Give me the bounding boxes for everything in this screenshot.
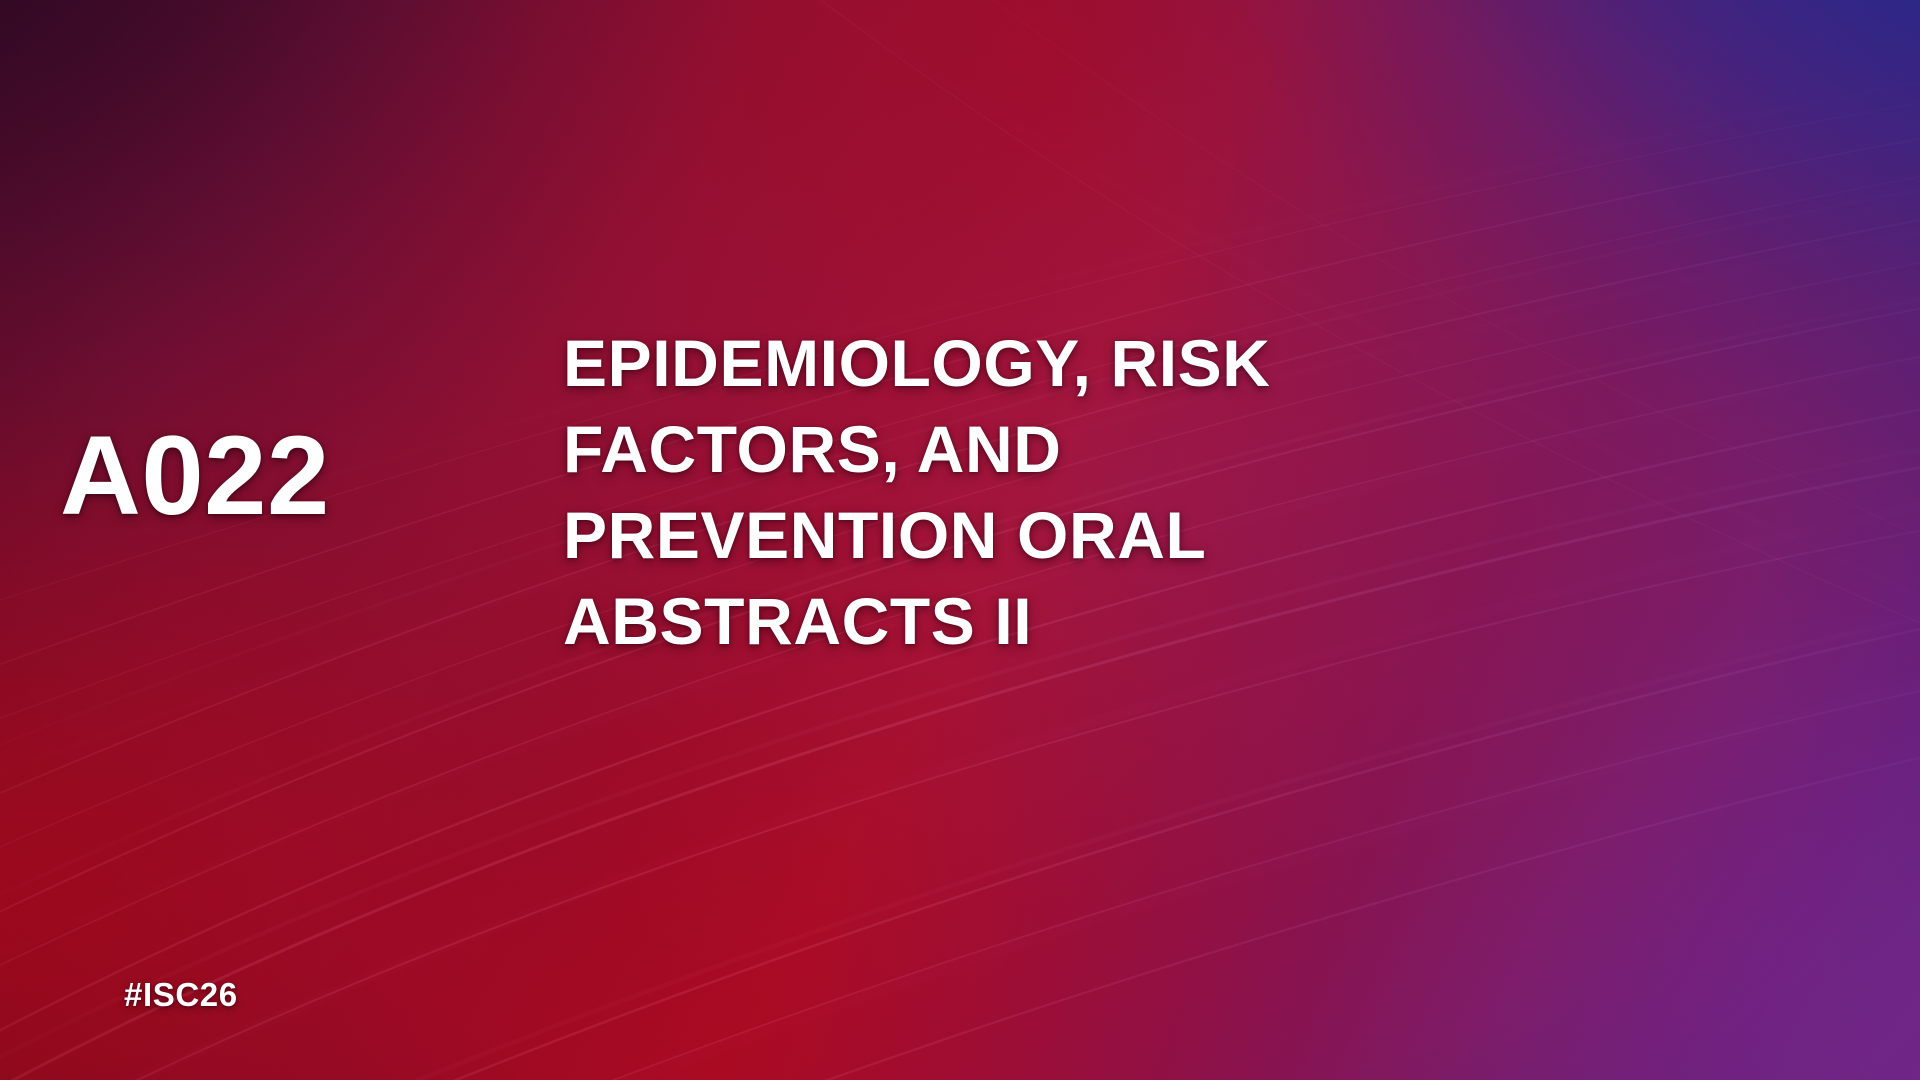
slide-content: A022 EPIDEMIOLOGY, RISK FACTORS, AND PRE… [0, 0, 1920, 1080]
session-title: EPIDEMIOLOGY, RISK FACTORS, AND PREVENTI… [563, 320, 1443, 665]
session-code: A022 [60, 420, 460, 532]
title-slide: A022 EPIDEMIOLOGY, RISK FACTORS, AND PRE… [0, 0, 1920, 1080]
event-hashtag: #ISC26 [124, 976, 238, 1014]
